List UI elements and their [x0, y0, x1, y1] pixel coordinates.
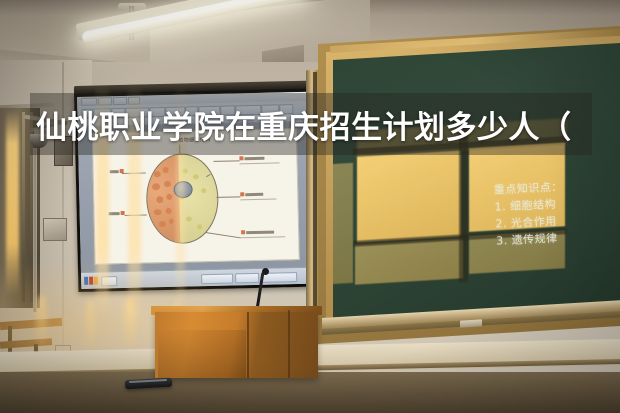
microphone-head-icon [262, 268, 269, 275]
blackboard-line: 3. 遗传规律 [496, 230, 566, 250]
slide-canvas: 植物细胞结构 [92, 128, 300, 265]
stage-front-face [0, 372, 620, 413]
cell-nucleus [174, 181, 193, 198]
light-pool [86, 300, 95, 348]
wall-conduit-pipe [33, 148, 37, 312]
slide-label [241, 230, 274, 235]
podium-panel-seam [247, 312, 249, 378]
classroom-photo: 植物细胞结构 [0, 0, 620, 413]
light-pool [36, 296, 47, 348]
light-pool [124, 298, 136, 348]
blackboard-notes: 重点知识点： 1. 细胞结构 2. 光合作用 3. 遗传规律 [493, 178, 565, 249]
curtain-light-gap [6, 110, 19, 296]
slide-label [110, 169, 124, 173]
cell-diagram [145, 153, 219, 245]
curtain-fold [22, 112, 25, 302]
slide-label [239, 156, 264, 161]
slide-label [240, 192, 263, 197]
caption-text: 仙桃职业学院在重庆招生计划多少人（ [36, 100, 606, 148]
control-panel[interactable] [43, 218, 67, 241]
slide-label [109, 211, 125, 215]
chalk-piece [460, 319, 482, 327]
podium-light-shadow [158, 330, 246, 378]
blackboard-surface [333, 43, 620, 322]
podium-panel-seam [288, 310, 290, 378]
